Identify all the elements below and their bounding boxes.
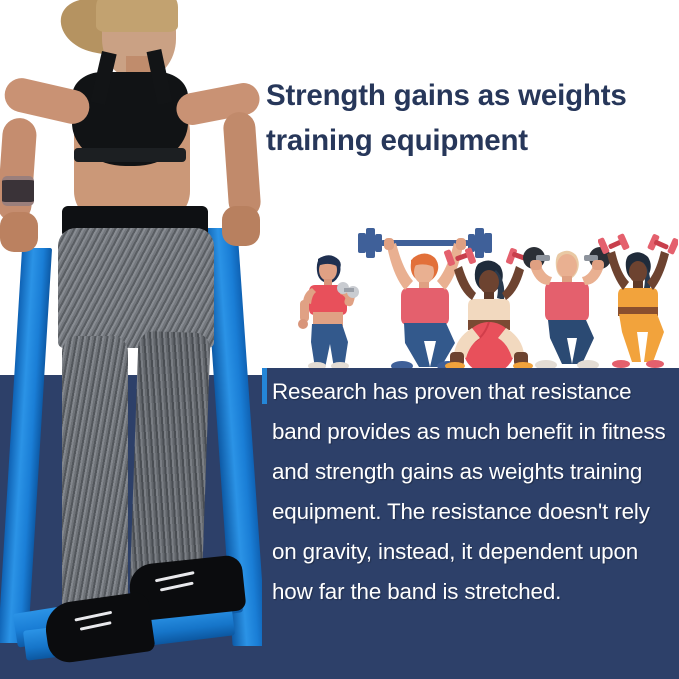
leg-left <box>62 336 128 626</box>
description-text: Research has proven that resistance band… <box>272 372 674 612</box>
product-photo-woman-with-band <box>0 0 262 679</box>
headline: Strength gains as weights training equip… <box>266 74 670 164</box>
figure-woman-dumbbell-curl <box>290 252 366 370</box>
sneaker-left <box>42 591 155 665</box>
exercise-illustration-strip <box>262 216 679 372</box>
smart-watch-icon <box>2 176 34 206</box>
arm-right-forearm <box>222 111 261 219</box>
panel-accent-bar <box>262 368 267 404</box>
arm-left-forearm <box>0 117 38 223</box>
figure-woman-overhead-raise <box>598 230 678 370</box>
hair-top <box>96 0 178 32</box>
leggings-hips <box>58 228 214 348</box>
hand-right-gripping-band <box>222 206 260 246</box>
hand-left-gripping-band <box>0 212 38 252</box>
infographic-canvas: Strength gains as weights training equip… <box>0 0 679 679</box>
resistance-band-left-strand <box>0 248 52 643</box>
sports-bra-band <box>74 148 186 162</box>
